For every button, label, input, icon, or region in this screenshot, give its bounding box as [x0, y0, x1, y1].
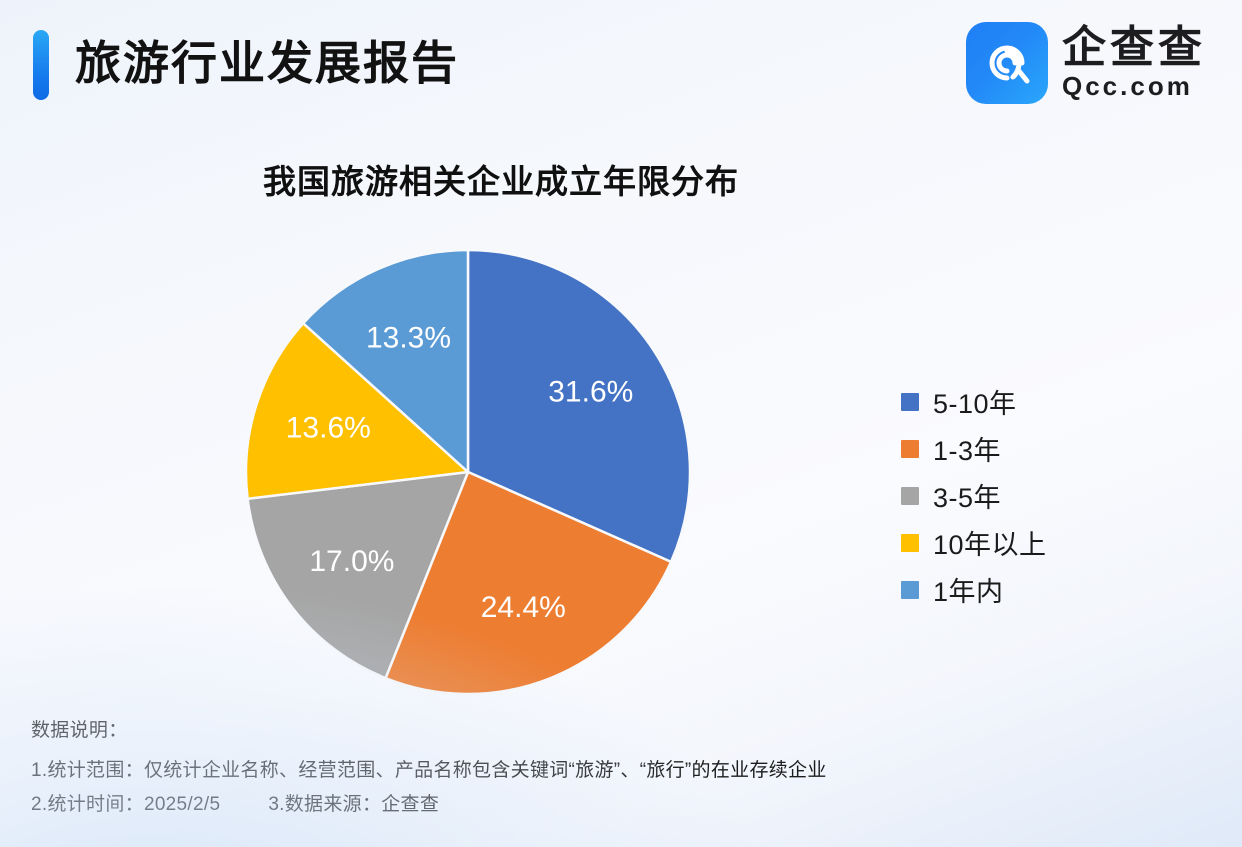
legend-item[interactable]: 5-10年 [901, 378, 1047, 425]
pie-slice-label: 17.0% [309, 545, 394, 578]
page-title: 旅游行业发展报告 [75, 28, 459, 98]
brand-name-en: Qcc.com [1062, 73, 1206, 100]
legend-item[interactable]: 1-3年 [901, 425, 1047, 472]
legend-item-label: 3-5年 [933, 476, 1001, 515]
footer-heading: 数据说明： [31, 714, 1131, 748]
brand-wordmark: 企查查 Qcc.com [1062, 25, 1206, 100]
footer-note-scope: 1.统计范围：仅统计企业名称、经营范围、产品名称包含关键词“旅游”、“旅行”的在… [31, 754, 1131, 788]
legend-swatch-icon [901, 581, 919, 599]
pie-slice-label: 13.3% [366, 322, 451, 355]
legend-item-label: 1年内 [933, 570, 1004, 609]
pie-slice-label: 31.6% [548, 376, 633, 409]
footer-note-source: 3.数据来源：企查查 [268, 788, 439, 822]
footer-notes: 数据说明： 1.统计范围：仅统计企业名称、经营范围、产品名称包含关键词“旅游”、… [31, 714, 1131, 822]
page-header: 旅游行业发展报告 企查查 Qcc.com [0, 0, 1242, 130]
chart-title: 我国旅游相关企业成立年限分布 [0, 155, 1242, 203]
pie-slice-label: 24.4% [481, 591, 566, 624]
legend-swatch-icon [901, 534, 919, 552]
legend-swatch-icon [901, 487, 919, 505]
legend-item-label: 5-10年 [933, 382, 1017, 421]
legend-item[interactable]: 1年内 [901, 566, 1047, 613]
chart-legend: 5-10年1-3年3-5年10年以上1年内 [901, 378, 1047, 613]
brand-logo: 企查查 Qcc.com [966, 22, 1206, 104]
pie-chart: 31.6%24.4%17.0%13.6%13.3% [243, 247, 693, 697]
brand-name-cn: 企查查 [1062, 25, 1206, 71]
legend-item[interactable]: 10年以上 [901, 519, 1047, 566]
qcc-logo-icon [966, 22, 1048, 104]
pie-slice-group [246, 250, 690, 694]
legend-swatch-icon [901, 393, 919, 411]
pie-chart-svg: 31.6%24.4%17.0%13.6%13.3% [243, 247, 693, 697]
title-accent-bar [33, 30, 49, 100]
footer-note-row: 2.统计时间：2025/2/5 3.数据来源：企查查 [31, 788, 1131, 822]
legend-item[interactable]: 3-5年 [901, 472, 1047, 519]
legend-item-label: 1-3年 [933, 429, 1001, 468]
report-page: 旅游行业发展报告 企查查 Qcc.com 我国旅游相关企业成立年限分布 [0, 0, 1242, 847]
footer-note-time: 2.统计时间：2025/2/5 [31, 788, 220, 822]
legend-swatch-icon [901, 440, 919, 458]
pie-slice-label: 13.6% [286, 411, 371, 444]
legend-item-label: 10年以上 [933, 523, 1047, 562]
